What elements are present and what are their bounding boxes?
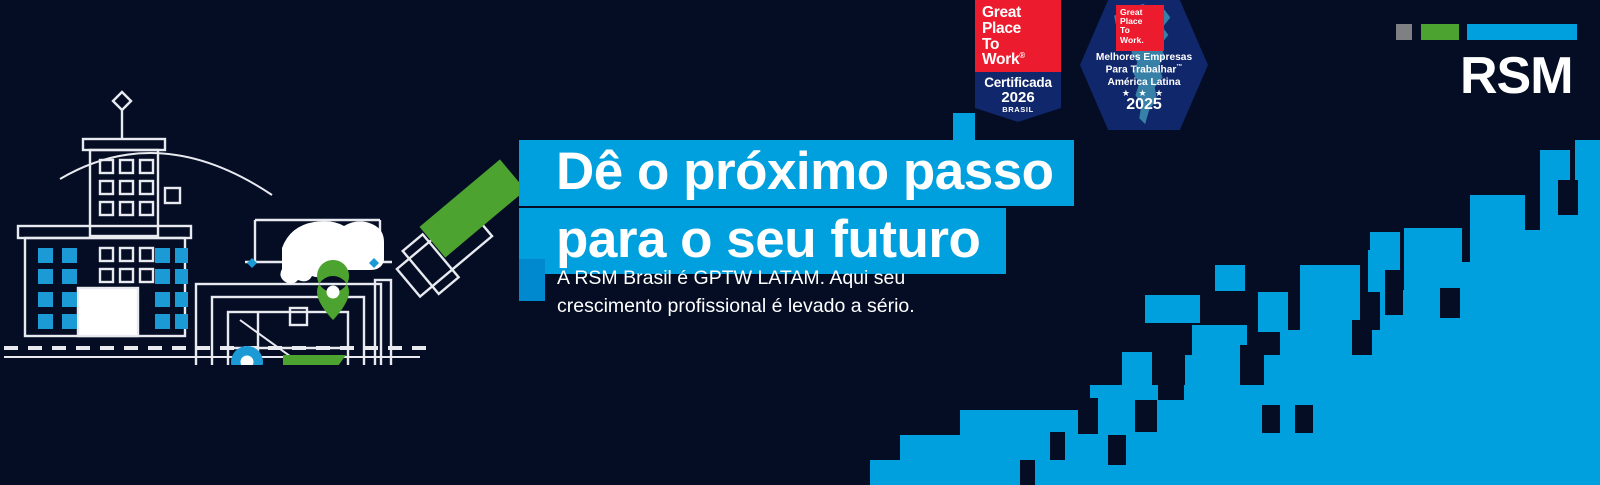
gptw-brand-block: Great Place To Work® [975, 0, 1061, 72]
rsm-recruitment-banner: Dê o próximo passo para o seu futuro A R… [0, 0, 1600, 485]
gptw-status-label: Certificada [975, 75, 1061, 90]
rsm-bar-blue-icon [1467, 24, 1577, 40]
gptw-latam-title-line-2: Para Trabalhar™ [1080, 64, 1208, 77]
gptw-brand-line-2: Place [982, 21, 1061, 37]
rsm-logo-bars [1396, 24, 1548, 40]
headline-line-1: Dê o próximo passo [519, 140, 1074, 206]
gptw-latam-title: Melhores Empresas Para Trabalhar™ Améric… [1080, 52, 1208, 90]
subtitle-accent-block [519, 259, 545, 301]
gptw-status-year: 2026 [975, 90, 1061, 106]
gptw-latam-brand-block: Great Place To Work. [1116, 5, 1164, 51]
headline: Dê o próximo passo para o seu futuro [519, 140, 1074, 274]
gptw-status-block: Certificada 2026 BRASIL [975, 72, 1061, 122]
trademark-mark: ™ [1176, 64, 1182, 70]
rsm-bar-green-icon [1421, 24, 1459, 40]
subtitle-text: A RSM Brasil é GPTW LATAM. Aqui seu cres… [557, 264, 915, 321]
gptw-latam-year: 2025 [1080, 96, 1208, 114]
gptw-brand-line-1: Great [982, 5, 1061, 21]
gptw-latam-title-line-1: Melhores Empresas [1080, 52, 1208, 64]
rsm-bar-gray-icon [1396, 24, 1412, 40]
office-building-illustration [0, 80, 520, 365]
badge-gptw-certified-brasil: Great Place To Work® Certificada 2026 BR… [975, 0, 1061, 122]
gptw-brand-line-4: Work® [982, 52, 1061, 68]
gptw-brand-line-3: To [982, 37, 1061, 53]
rsm-wordmark: RSM [1460, 50, 1573, 102]
badge-gptw-latam: Great Place To Work. Melhores Empresas P… [1080, 0, 1208, 130]
registered-mark: ® [1019, 51, 1025, 60]
gptw-latam-brand-line-4: Work. [1120, 36, 1164, 45]
rsm-logo: RSM [1396, 24, 1573, 102]
gptw-status-country: BRASIL [975, 105, 1061, 114]
